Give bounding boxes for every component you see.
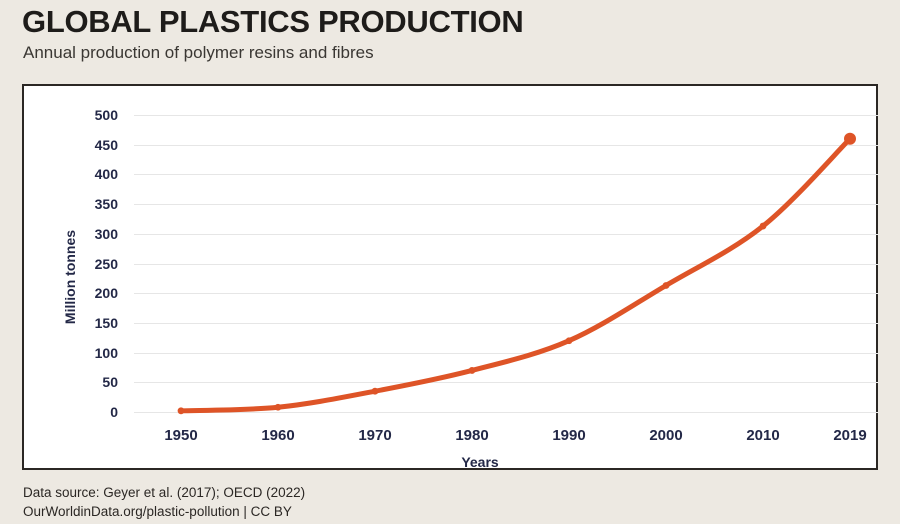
page-subtitle: Annual production of polymer resins and … xyxy=(23,43,374,63)
data-point-marker xyxy=(469,367,476,374)
data-point-marker xyxy=(275,404,282,411)
data-point-marker xyxy=(844,133,856,145)
footer: Data source: Geyer et al. (2017); OECD (… xyxy=(23,484,305,521)
x-axis-tick-label: 1950 xyxy=(164,427,197,444)
x-axis-tick-label: 2019 xyxy=(833,427,866,444)
series-line xyxy=(181,139,850,411)
x-axis-tick-label: 1960 xyxy=(261,427,294,444)
plot-area: Million tonnes 0501001502002503003504004… xyxy=(24,86,876,468)
x-axis-tick-label: 1990 xyxy=(552,427,585,444)
data-point-marker xyxy=(760,223,767,230)
footer-source: Data source: Geyer et al. (2017); OECD (… xyxy=(23,484,305,503)
x-axis-tick-label: 2010 xyxy=(746,427,779,444)
page-title: GLOBAL PLASTICS PRODUCTION xyxy=(22,6,523,39)
line-series xyxy=(24,86,880,472)
x-axis-tick-label: 2000 xyxy=(649,427,682,444)
data-point-marker xyxy=(372,388,379,395)
chart-panel: Million tonnes 0501001502002503003504004… xyxy=(22,84,878,470)
x-axis-tick-label: 1980 xyxy=(455,427,488,444)
chart-page: GLOBAL PLASTICS PRODUCTION Annual produc… xyxy=(0,0,900,524)
data-point-marker xyxy=(566,337,573,344)
data-point-marker xyxy=(178,407,185,414)
x-axis-tick-label: 1970 xyxy=(358,427,391,444)
x-axis-title: Years xyxy=(461,454,498,470)
data-point-marker xyxy=(663,282,670,289)
footer-attribution: OurWorldinData.org/plastic-pollution | C… xyxy=(23,503,305,522)
